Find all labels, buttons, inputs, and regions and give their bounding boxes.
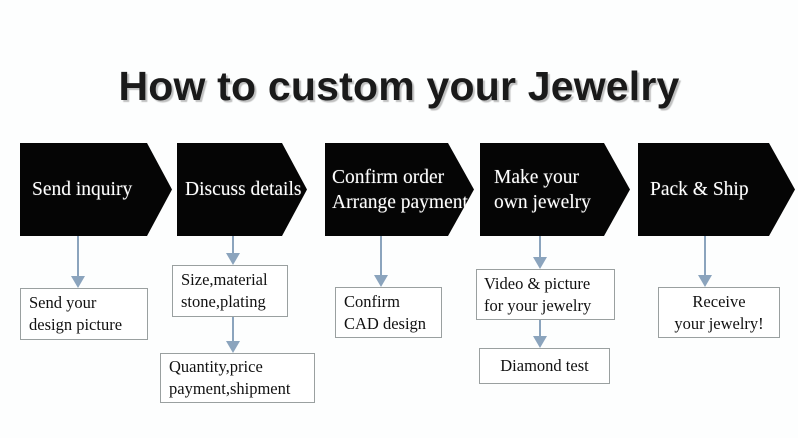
connector-line <box>232 317 234 342</box>
detail-box-quantity-price-payment-shipment[interactable]: Quantity,pricepayment,shipment <box>160 353 315 403</box>
page-title: How to custom your Jewelry <box>0 62 798 110</box>
process-step-send-inquiry[interactable]: Send inquiry <box>20 143 172 236</box>
process-step-make-your-own-jewelry[interactable]: Make yourown jewelry <box>480 143 630 236</box>
detail-box-label: Diamond test <box>500 355 588 377</box>
detail-box-label: Confirm <box>344 291 400 313</box>
detail-box-label: for your jewelry <box>484 295 591 317</box>
arrow-head-icon <box>374 275 388 287</box>
process-step-label: own jewelry <box>494 190 591 215</box>
connector-line <box>380 236 382 276</box>
arrow-head-icon <box>226 253 240 265</box>
connector-line <box>232 236 234 254</box>
process-step-confirm-order-arrange-payment[interactable]: Confirm orderArrange payment <box>325 143 474 236</box>
process-step-label: Pack & Ship <box>650 177 749 202</box>
detail-box-confirm-cad-design[interactable]: ConfirmCAD design <box>335 287 442 338</box>
detail-box-label: Size,material <box>181 269 268 291</box>
arrow-connector-video-picture-to-diamond-test <box>530 320 550 348</box>
process-step-pack-and-ship[interactable]: Pack & Ship <box>638 143 795 236</box>
connector-line <box>77 236 79 277</box>
detail-box-size-material-stone-plating[interactable]: Size,materialstone,plating <box>172 265 288 317</box>
detail-box-label: your jewelry! <box>674 313 763 335</box>
detail-box-receive-your-jewelry[interactable]: Receiveyour jewelry! <box>658 287 780 338</box>
detail-box-label: Receive <box>692 291 745 313</box>
connector-line <box>539 320 541 337</box>
detail-box-video-and-picture-for-your-jewelry[interactable]: Video & picturefor your jewelry <box>476 269 615 320</box>
arrow-connector-size-material-to-quantity-price <box>223 317 243 353</box>
arrow-head-icon <box>71 276 85 288</box>
process-step-label: Confirm order <box>332 165 444 190</box>
detail-box-diamond-test[interactable]: Diamond test <box>479 348 610 384</box>
detail-box-label: Quantity,price <box>169 356 263 378</box>
arrow-connector-confirm-order-to-cad-design <box>371 236 391 287</box>
detail-box-label: CAD design <box>344 313 426 335</box>
arrow-connector-pack-ship-to-receive-jewelry <box>695 236 715 287</box>
connector-line <box>539 236 541 258</box>
process-step-label: Send inquiry <box>32 177 132 202</box>
process-step-label: Arrange payment <box>332 190 468 215</box>
arrow-connector-discuss-details-to-size-material <box>223 236 243 265</box>
detail-box-label: stone,plating <box>181 291 266 313</box>
detail-box-send-your-design-picture[interactable]: Send yourdesign picture <box>20 288 148 340</box>
detail-box-label: Send your <box>29 292 96 314</box>
arrow-head-icon <box>226 341 240 353</box>
detail-box-label: payment,shipment <box>169 378 290 400</box>
process-step-label: Discuss details <box>185 177 301 202</box>
arrow-head-icon <box>533 336 547 348</box>
process-step-label: Make your <box>494 165 579 190</box>
flowchart-canvas: How to custom your Jewelry Send inquiryD… <box>0 0 798 438</box>
connector-line <box>704 236 706 276</box>
arrow-head-icon <box>533 257 547 269</box>
process-step-discuss-details[interactable]: Discuss details <box>177 143 307 236</box>
detail-box-label: Video & picture <box>484 273 590 295</box>
detail-box-label: design picture <box>29 314 122 336</box>
arrow-connector-make-jewelry-to-video-picture <box>530 236 550 269</box>
arrow-connector-send-inquiry-to-design-picture <box>68 236 88 288</box>
arrow-head-icon <box>698 275 712 287</box>
